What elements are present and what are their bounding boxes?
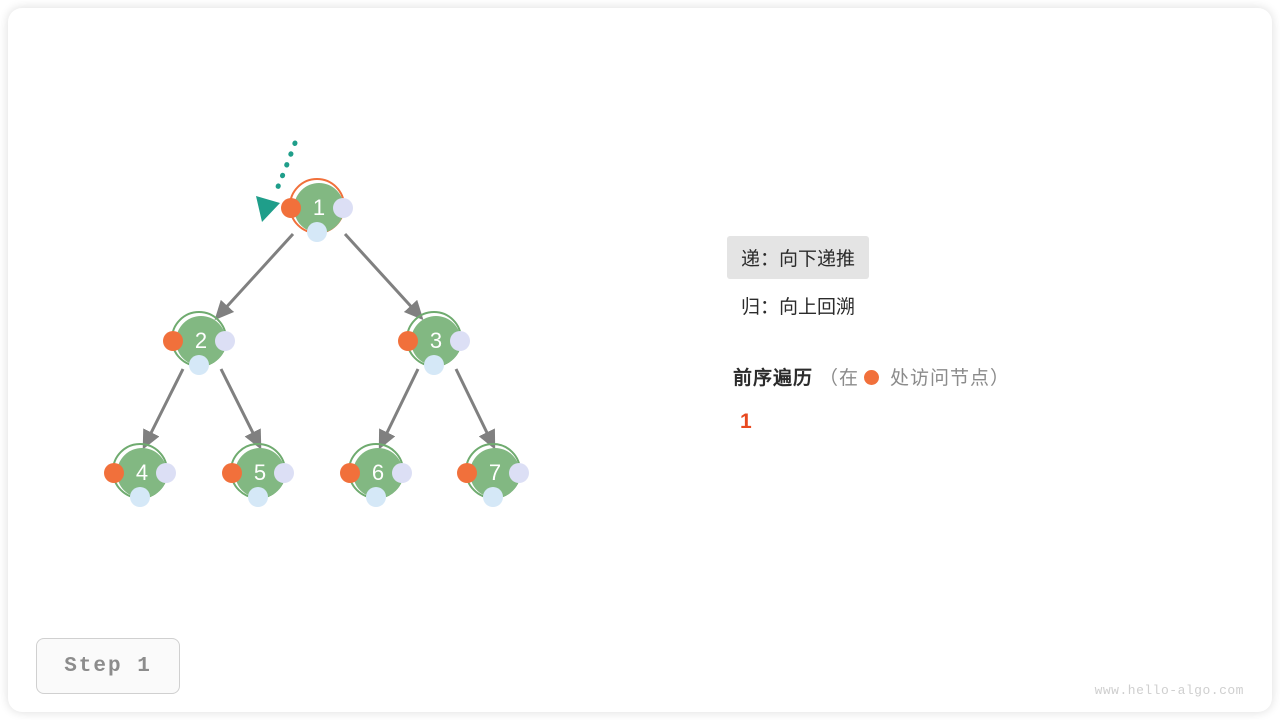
tree-node-3[interactable]: 3	[406, 311, 466, 371]
port-postorder-icon	[366, 487, 386, 507]
port-inorder-icon	[333, 198, 353, 218]
edge-n1-n2	[221, 234, 293, 313]
port-inorder-icon	[215, 331, 235, 351]
tree-node-7[interactable]: 7	[465, 443, 525, 503]
traversal-sequence: 1	[740, 410, 758, 434]
port-postorder-icon	[189, 355, 209, 375]
port-preorder-icon	[281, 198, 301, 218]
legend-recurse: 递：向下递推	[727, 236, 869, 279]
port-postorder-icon	[483, 487, 503, 507]
edge-n2-n4	[147, 369, 183, 441]
tree-node-4[interactable]: 4	[112, 443, 172, 503]
traversal-note-open: （在	[819, 363, 859, 390]
port-preorder-icon	[340, 463, 360, 483]
port-preorder-icon	[457, 463, 477, 483]
watermark: www.hello-algo.com	[1095, 683, 1244, 698]
edge-n1-n3	[345, 234, 417, 313]
legend-backtrack: 归：向上回溯	[727, 284, 869, 327]
port-postorder-icon	[248, 487, 268, 507]
step-badge: Step 1	[36, 638, 180, 694]
port-inorder-icon	[392, 463, 412, 483]
edge-n3-n6	[383, 369, 418, 441]
tree-node-2[interactable]: 2	[171, 311, 231, 371]
port-postorder-icon	[424, 355, 444, 375]
port-inorder-icon	[450, 331, 470, 351]
edge-n3-n7	[456, 369, 491, 441]
figure-canvas: 1 2 3 4 5 6 7	[0, 0, 1280, 720]
port-inorder-icon	[156, 463, 176, 483]
edge-n2-n5	[221, 369, 257, 441]
port-preorder-icon	[104, 463, 124, 483]
traversal-title-label: 前序遍历	[733, 363, 813, 390]
tree-node-5[interactable]: 5	[230, 443, 290, 503]
preorder-marker-icon	[864, 370, 879, 385]
traversal-title: 前序遍历 （在 处访问节点）	[733, 363, 1010, 390]
port-inorder-icon	[509, 463, 529, 483]
traversal-note-close: 处访问节点）	[890, 363, 1010, 390]
port-preorder-icon	[398, 331, 418, 351]
tree-node-1[interactable]: 1	[289, 178, 349, 238]
port-preorder-icon	[222, 463, 242, 483]
port-postorder-icon	[130, 487, 150, 507]
tree-node-6[interactable]: 6	[348, 443, 408, 503]
port-inorder-icon	[274, 463, 294, 483]
port-postorder-icon	[307, 222, 327, 242]
port-preorder-icon	[163, 331, 183, 351]
